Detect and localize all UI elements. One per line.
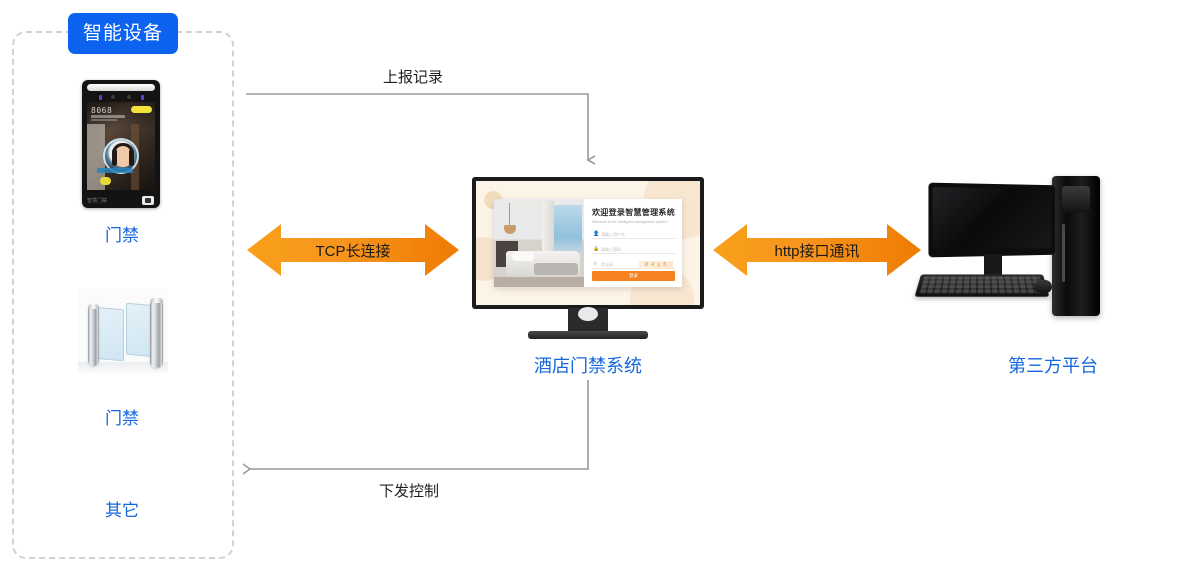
password-placeholder: 请输入密码 xyxy=(601,247,621,252)
username-field[interactable]: 👤 请输入用户名 xyxy=(592,230,675,239)
tcp-arrow-label: TCP长连接 xyxy=(315,240,390,261)
login-form: 欢迎登录智慧管理系统 Welcome to the intelligent ma… xyxy=(584,199,682,287)
hotel-room-photo xyxy=(494,199,584,287)
light-bar-icon xyxy=(87,84,155,91)
photo-pendant-lamp xyxy=(504,225,516,234)
diagram-canvas: 智能设备 8068 智慧门禁 门禁 xyxy=(0,0,1196,580)
captcha-placeholder: 验证码 xyxy=(601,262,613,267)
pc-mouse xyxy=(1034,280,1052,293)
pc-monitor xyxy=(928,183,1055,258)
lock-icon: 🔒 xyxy=(593,247,598,252)
avatar-hair-left xyxy=(112,149,117,166)
photo-pillow xyxy=(512,252,534,261)
caption-other-device: 其它 xyxy=(72,496,172,521)
caption-face-terminal: 门禁 xyxy=(72,221,172,246)
user-icon: 👤 xyxy=(593,232,598,237)
http-arrow-label: http接口通讯 xyxy=(774,240,859,261)
username-placeholder: 请输入用户名 xyxy=(601,232,625,237)
recognition-pill-icon xyxy=(100,177,111,185)
monitor-stand-base xyxy=(528,331,648,339)
caption-speed-gate: 门禁 xyxy=(72,404,172,429)
gate-post-right xyxy=(150,298,163,368)
recognition-tag xyxy=(97,168,133,173)
pc-tower-case xyxy=(1052,176,1100,316)
monitor-stand-neck xyxy=(568,308,608,333)
login-subtitle: Welcome to the intelligent management sy… xyxy=(592,220,675,224)
tcp-connection-arrow: TCP长连接 xyxy=(247,222,459,278)
caption-third-party: 第三方平台 xyxy=(968,352,1138,378)
gate-post-left xyxy=(88,304,99,366)
photo-throw-blanket xyxy=(534,263,578,275)
login-card: 欢迎登录智慧管理系统 Welcome to the intelligent ma… xyxy=(494,199,682,287)
photo-window xyxy=(552,205,582,255)
password-field[interactable]: 🔒 请输入密码 xyxy=(592,245,675,254)
captcha-field[interactable]: ⚙ 验证码 8 4 y 5 xyxy=(592,260,675,269)
report-flow-line xyxy=(246,94,588,160)
device-group-badge: 智能设备 xyxy=(68,13,178,54)
face-terminal-device: 8068 智慧门禁 xyxy=(82,80,160,208)
room-number-text: 8068 xyxy=(91,106,112,115)
avatar-hair-right xyxy=(129,149,134,166)
control-flow-line xyxy=(250,380,588,469)
sensor-array-icon xyxy=(87,94,155,100)
speed-gate-device xyxy=(78,288,168,374)
third-party-computer xyxy=(912,176,1102,324)
login-submit-button[interactable]: 登录 xyxy=(592,271,675,281)
pc-keyboard xyxy=(915,274,1050,296)
caption-hotel-system: 酒店门禁系统 xyxy=(498,352,678,378)
login-title: 欢迎登录智慧管理系统 xyxy=(592,207,675,218)
monitor-bezel: 欢迎登录智慧管理系统 Welcome to the intelligent ma… xyxy=(472,177,704,309)
status-badge xyxy=(131,106,152,113)
http-connection-arrow: http接口通讯 xyxy=(713,222,921,278)
shield-icon: ⚙ xyxy=(593,262,598,267)
room-subtext-line-1 xyxy=(91,115,125,118)
terminal-screen: 8068 xyxy=(87,102,155,190)
label-control-flow: 下发控制 xyxy=(379,480,439,501)
photo-rug xyxy=(494,277,584,287)
terminal-footer-text: 智慧门禁 xyxy=(87,197,107,204)
hotel-system-monitor: 欢迎登录智慧管理系统 Welcome to the intelligent ma… xyxy=(472,177,704,322)
captcha-image[interactable]: 8 4 y 5 xyxy=(639,261,673,269)
room-subtext-line-2 xyxy=(91,119,117,121)
label-report-flow: 上报记录 xyxy=(383,66,443,87)
pc-monitor-screen xyxy=(933,187,1052,250)
terminal-card-reader-icon xyxy=(142,196,154,205)
monitor-screen: 欢迎登录智慧管理系统 Welcome to the intelligent ma… xyxy=(476,181,700,305)
